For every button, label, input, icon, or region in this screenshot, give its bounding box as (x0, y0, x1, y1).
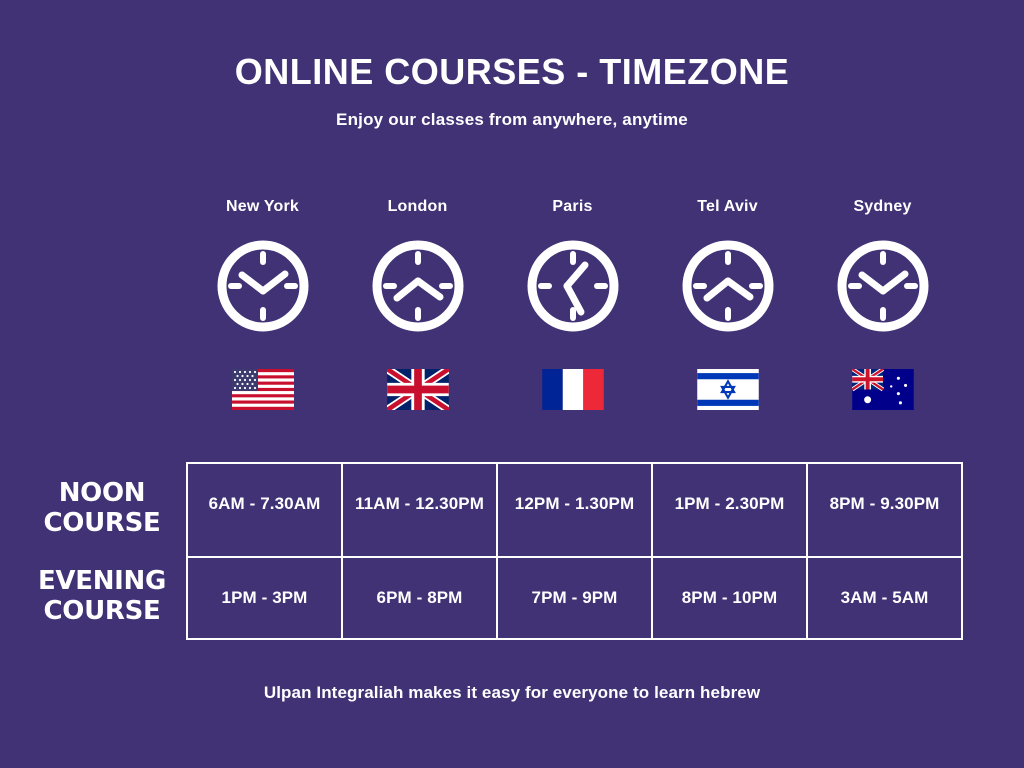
timezone-label-tel-aviv: Tel Aviv (697, 196, 758, 218)
schedule-table: NOON COURSE EVENING COURSE 6AM - 7.30AM … (18, 462, 963, 640)
footer-tagline: Ulpan Integraliah makes it easy for ever… (0, 683, 1024, 703)
timezone-column-new-york: New York (185, 196, 340, 410)
flag-uk-icon (387, 368, 449, 410)
flag-fr-icon (542, 368, 604, 410)
clock-icon-sydney (833, 236, 933, 336)
flag-il-icon (697, 368, 759, 410)
table-row: 6AM - 7.30AM 11AM - 12.30PM 12PM - 1.30P… (188, 464, 961, 556)
clock-icon-new-york (213, 236, 313, 336)
schedule-cell-evening-sydney: 3AM - 5AM (806, 558, 961, 638)
schedule-cell-evening-tel-aviv: 8PM - 10PM (651, 558, 806, 638)
row-label-noon-line2: COURSE (43, 508, 160, 538)
page-title: ONLINE COURSES - TIMEZONE (0, 52, 1024, 92)
timezone-column-london: London (340, 196, 495, 410)
timezone-label-paris: Paris (552, 196, 592, 218)
row-label-evening-line2: COURSE (43, 596, 160, 626)
schedule-cell-evening-new-york: 1PM - 3PM (188, 558, 341, 638)
flag-us-icon (232, 368, 294, 410)
flag-au-icon (852, 368, 914, 410)
schedule-cell-noon-london: 11AM - 12.30PM (341, 464, 496, 556)
table-row: 1PM - 3PM 6PM - 8PM 7PM - 9PM 8PM - 10PM… (188, 556, 961, 638)
clock-icon-london (368, 236, 468, 336)
timezone-column-sydney: Sydney (805, 196, 960, 410)
clock-icon-tel-aviv (678, 236, 778, 336)
schedule-row-labels: NOON COURSE EVENING COURSE (18, 462, 186, 640)
row-label-noon-course: NOON COURSE (18, 462, 186, 555)
schedule-grid: 6AM - 7.30AM 11AM - 12.30PM 12PM - 1.30P… (186, 462, 963, 640)
schedule-cell-evening-london: 6PM - 8PM (341, 558, 496, 638)
timezone-label-new-york: New York (226, 196, 299, 218)
timezone-label-sydney: Sydney (853, 196, 911, 218)
schedule-cell-noon-sydney: 8PM - 9.30PM (806, 464, 961, 556)
timezone-strip: New York (185, 196, 960, 410)
schedule-cell-noon-tel-aviv: 1PM - 2.30PM (651, 464, 806, 556)
row-label-evening-line1: EVENING (38, 566, 166, 596)
header: ONLINE COURSES - TIMEZONE Enjoy our clas… (0, 0, 1024, 130)
schedule-cell-evening-paris: 7PM - 9PM (496, 558, 651, 638)
timezone-column-paris: Paris (495, 196, 650, 410)
page-subtitle: Enjoy our classes from anywhere, anytime (0, 110, 1024, 130)
row-label-noon-line1: NOON (59, 478, 146, 508)
row-label-evening-course: EVENING COURSE (18, 555, 186, 638)
timezone-label-london: London (388, 196, 448, 218)
schedule-cell-noon-paris: 12PM - 1.30PM (496, 464, 651, 556)
clock-icon-paris (523, 236, 623, 336)
schedule-cell-noon-new-york: 6AM - 7.30AM (188, 464, 341, 556)
timezone-column-tel-aviv: Tel Aviv (650, 196, 805, 410)
